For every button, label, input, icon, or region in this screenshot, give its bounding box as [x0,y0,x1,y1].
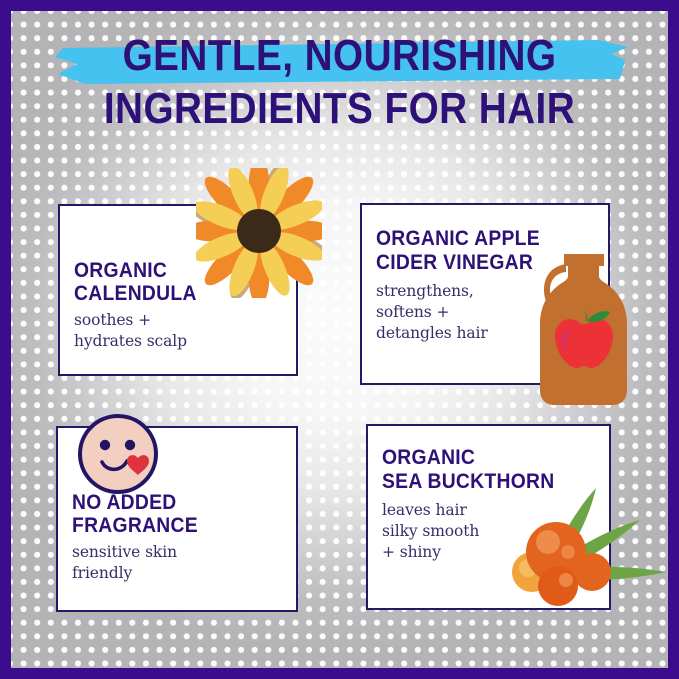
page-title: GENTLE, NOURISHING INGREDIENTS FOR HAIR [0,34,679,131]
card-calendula-body: soothes + hydrates scalp [74,310,282,352]
card-sea-buckthorn-body: leaves hair silky smooth + shiny [382,500,595,563]
card-sea-buckthorn-content: ORGANIC SEA BUCKTHORN leaves hair silky … [368,426,609,608]
card-calendula[interactable]: ORGANIC CALENDULA soothes + hydrates sca… [58,204,298,376]
card-apple-cider-vinegar[interactable]: ORGANIC APPLE CIDER VINEGAR strengthens,… [360,203,610,385]
card-no-added-fragrance-heading: NO ADDED FRAGRANCE [72,491,265,538]
card-calendula-content: ORGANIC CALENDULA soothes + hydrates sca… [60,206,296,374]
card-apple-cider-vinegar-body: strengthens, softens + detangles hair [376,281,594,344]
title-line1-wrapper: GENTLE, NOURISHING [77,34,602,78]
card-calendula-heading: ORGANIC CALENDULA [74,259,265,306]
card-sea-buckthorn[interactable]: ORGANIC SEA BUCKTHORN leaves hair silky … [366,424,611,610]
card-no-added-fragrance-body: sensitive skin friendly [72,542,282,584]
card-no-added-fragrance-content: NO ADDED FRAGRANCE sensitive skin friend… [58,428,296,610]
infographic-canvas: GENTLE, NOURISHING INGREDIENTS FOR HAIR … [0,0,679,679]
card-apple-cider-vinegar-content: ORGANIC APPLE CIDER VINEGAR strengthens,… [362,205,608,383]
card-no-added-fragrance[interactable]: NO ADDED FRAGRANCE sensitive skin friend… [56,426,298,612]
title-line-2: INGREDIENTS FOR HAIR [41,87,639,131]
card-apple-cider-vinegar-heading: ORGANIC APPLE CIDER VINEGAR [376,227,577,274]
title-line-1: GENTLE, NOURISHING [123,34,557,78]
card-sea-buckthorn-heading: ORGANIC SEA BUCKTHORN [382,446,578,493]
